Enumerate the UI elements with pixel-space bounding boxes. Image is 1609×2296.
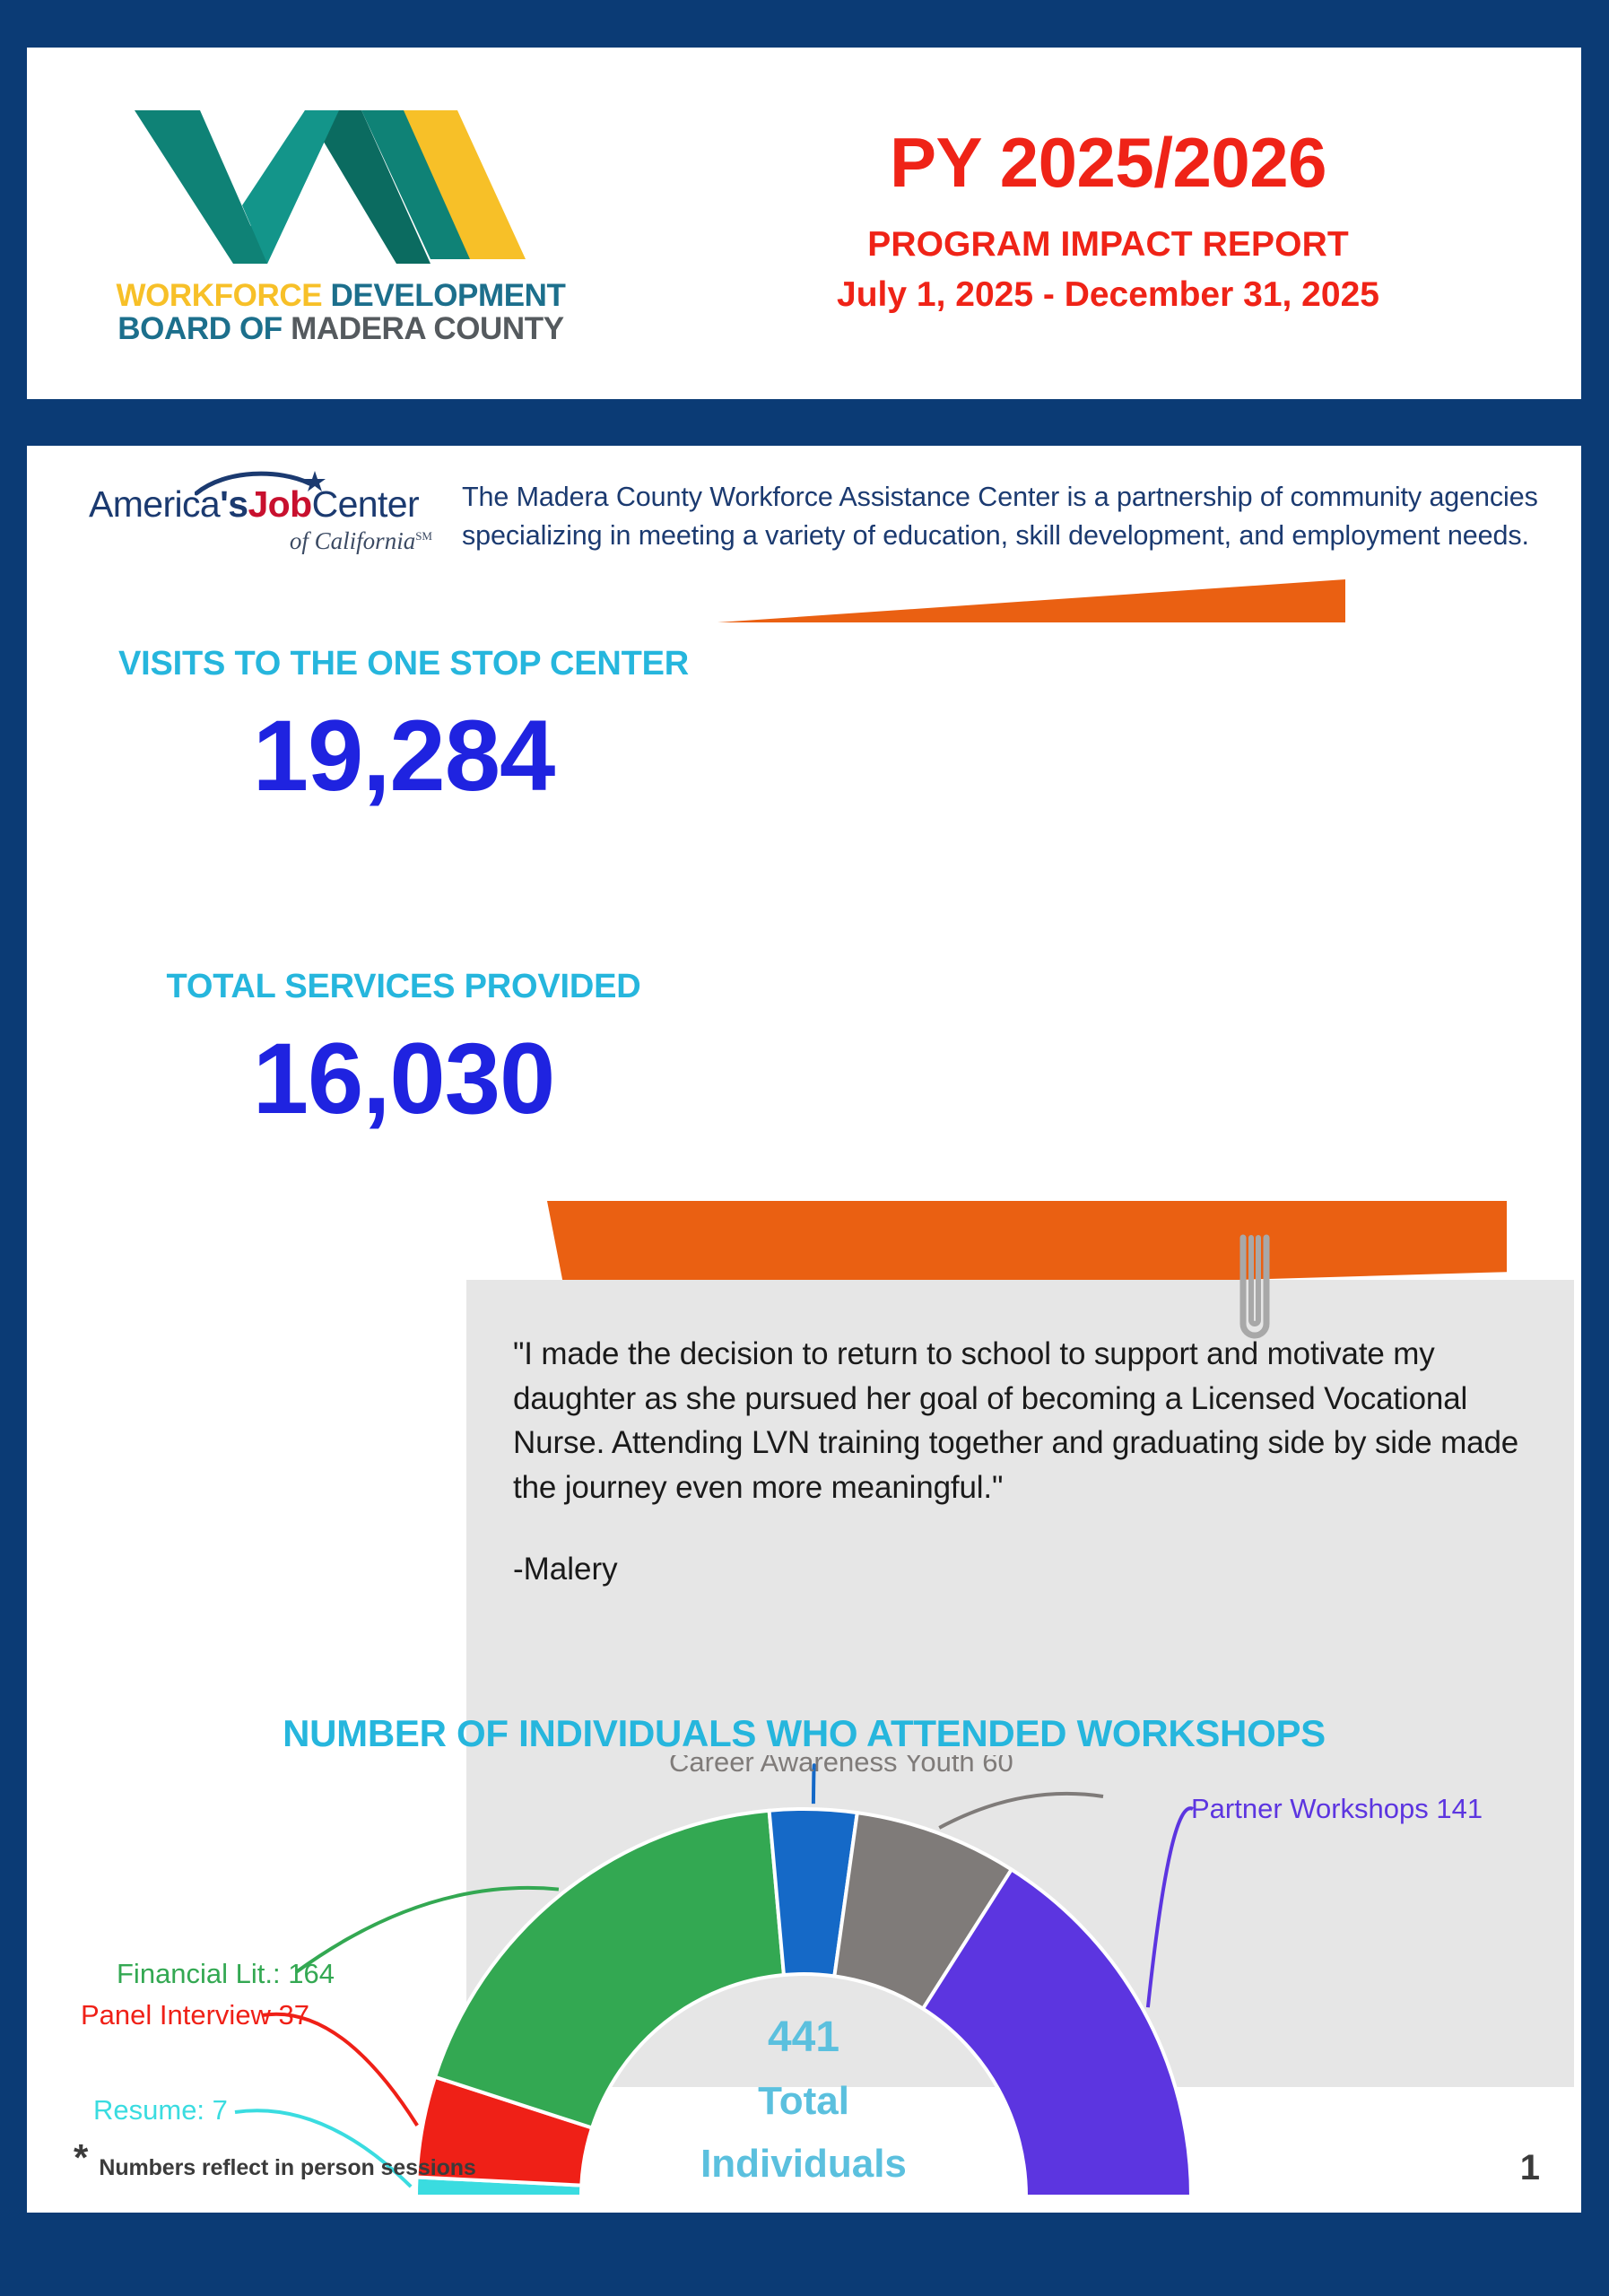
wdb-logo-block: WORKFORCE DEVELOPMENT BOARD OF MADERA CO…	[27, 101, 655, 346]
report-page: WORKFORCE DEVELOPMENT BOARD OF MADERA CO…	[0, 0, 1609, 2296]
wordmark-workforce: WORKFORCE	[116, 278, 322, 313]
leader-line-panel-interview	[262, 2014, 417, 2126]
donut-center-text: 441 Total Individuals	[700, 2013, 907, 2186]
donut-center-value: 441	[768, 2013, 839, 2061]
wdb-chevron-logo-icon	[135, 107, 547, 264]
header-panel: WORKFORCE DEVELOPMENT BOARD OF MADERA CO…	[27, 48, 1581, 399]
wordmark-madera-county: MADERA COUNTY	[291, 311, 564, 346]
leader-line-career-awareness-youth	[939, 1794, 1103, 1828]
label-panel-interview: Panel Interview 37	[81, 1999, 309, 2031]
page-number: 1	[1520, 2148, 1540, 2188]
label-financial-literacy: Financial Lit.: 164	[117, 1958, 335, 1989]
ajcc-sm-mark: SM	[415, 529, 432, 543]
testimonial-text: "I made the decision to return to school…	[513, 1332, 1527, 1510]
paperclip-icon	[1231, 1231, 1279, 1352]
wordmark-board-of: BOARD OF	[117, 311, 282, 346]
intro-paragraph: The Madera County Workforce Assistance C…	[462, 478, 1552, 556]
leader-line-partner-workshops	[1148, 1808, 1193, 2007]
report-title-block: PY 2025/2026 PROGRAM IMPACT REPORT July …	[655, 126, 1581, 321]
report-subtitle: PROGRAM IMPACT REPORT	[671, 220, 1545, 271]
label-partner-workshops: Partner Workshops 141	[1191, 1793, 1483, 1824]
stat-visits: VISITS TO THE ONE STOP CENTER 19,284	[27, 645, 780, 809]
stat-visits-label: VISITS TO THE ONE STOP CENTER	[27, 645, 780, 683]
ajcc-logo-line2: of CaliforniaSM	[70, 527, 438, 555]
footnote-text: Numbers reflect in person sessions	[99, 2141, 475, 2181]
page-title: PY 2025/2026	[671, 126, 1545, 200]
donut-center-line2: Total	[758, 2079, 849, 2123]
donut-segments	[416, 1809, 1191, 2196]
testimonial-author: -Malery	[513, 1552, 1527, 1587]
label-resume: Resume: 7	[93, 2094, 228, 2126]
chart-title: NUMBER OF INDIVIDUALS WHO ATTENDED WORKS…	[27, 1712, 1581, 1755]
wdb-wordmark: WORKFORCE DEVELOPMENT BOARD OF MADERA CO…	[116, 280, 565, 346]
ajcc-subtitle: of California	[290, 527, 415, 554]
label-career-awareness-youth: Career Awareness Youth 60	[669, 1755, 1013, 1778]
footnote: * Numbers reflect in person sessions	[74, 2141, 476, 2181]
donut-center-line3: Individuals	[700, 2142, 907, 2186]
stat-services-value: 16,030	[27, 1026, 780, 1132]
segment-financial-literacy	[435, 1811, 784, 2128]
report-date-range: July 1, 2025 - December 31, 2025	[671, 270, 1545, 321]
stat-visits-value: 19,284	[27, 703, 780, 809]
americas-job-center-logo: America'sJobCenter of CaliforniaSM	[70, 483, 438, 555]
stat-services-label: TOTAL SERVICES PROVIDED	[27, 968, 780, 1006]
wdb-wordmark-line1: WORKFORCE DEVELOPMENT	[116, 280, 565, 313]
orange-accent-top	[718, 579, 1345, 622]
main-content-panel: America'sJobCenter of CaliforniaSM The M…	[27, 446, 1581, 2213]
ajcc-logo-line1: America'sJobCenter	[89, 483, 419, 526]
stat-services: TOTAL SERVICES PROVIDED 16,030	[27, 968, 780, 1132]
wordmark-development: DEVELOPMENT	[331, 278, 566, 313]
asterisk-icon: *	[74, 2141, 88, 2175]
swoosh-star-icon	[195, 469, 329, 496]
wdb-wordmark-line2: BOARD OF MADERA COUNTY	[116, 313, 565, 346]
